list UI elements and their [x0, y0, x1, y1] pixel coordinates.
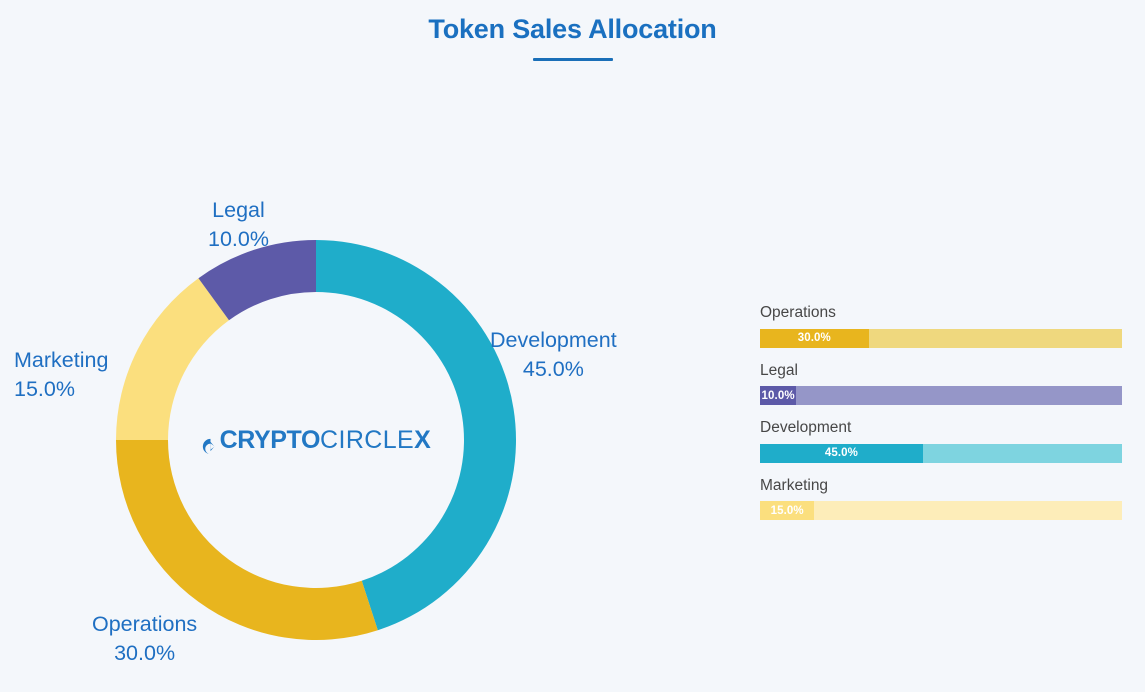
slice-label-development-pct: 45.0%	[490, 355, 617, 384]
legend-row[interactable]: Legal10.0%	[760, 362, 1122, 406]
legend-panel: Operations30.0%Legal10.0%Development45.0…	[760, 304, 1122, 520]
slice-label-legal-name: Legal	[212, 198, 265, 222]
legend-label: Marketing	[760, 477, 1122, 496]
slice-label-operations-name: Operations	[92, 612, 197, 636]
donut-slice-group	[116, 240, 516, 640]
slice-label-legal-pct: 10.0%	[208, 225, 269, 254]
legend-bar-pct: 30.0%	[798, 332, 831, 344]
title-underline-rule	[533, 58, 613, 61]
page-title: Token Sales Allocation	[0, 14, 1145, 45]
legend-bar-fill: 45.0%	[760, 444, 923, 463]
donut-slice-marketing[interactable]	[116, 278, 229, 440]
slice-label-marketing-name: Marketing	[14, 348, 108, 372]
slice-label-development: Development 45.0%	[490, 326, 617, 383]
slice-label-operations-pct: 30.0%	[92, 639, 197, 668]
donut-chart-svg	[116, 240, 516, 640]
donut-chart: CRYPTOCIRCLEX	[116, 240, 516, 640]
slice-label-marketing-pct: 15.0%	[14, 375, 108, 404]
legend-bar-fill: 10.0%	[760, 386, 796, 405]
slice-label-marketing: Marketing 15.0%	[14, 346, 108, 403]
slice-label-operations: Operations 30.0%	[92, 610, 197, 667]
legend-bar-fill: 15.0%	[760, 501, 814, 520]
slice-label-development-name: Development	[490, 328, 617, 352]
legend-row[interactable]: Marketing15.0%	[760, 477, 1122, 521]
legend-bar-fill: 30.0%	[760, 329, 869, 348]
donut-slice-development[interactable]	[316, 240, 516, 630]
legend-bar-track: 10.0%	[760, 386, 1122, 405]
legend-row[interactable]: Operations30.0%	[760, 304, 1122, 348]
chart-header: Token Sales Allocation	[0, 14, 1145, 61]
legend-label: Development	[760, 419, 1122, 438]
legend-label: Legal	[760, 362, 1122, 381]
legend-bar-track: 15.0%	[760, 501, 1122, 520]
legend-bar-pct: 45.0%	[825, 447, 858, 459]
legend-label: Operations	[760, 304, 1122, 323]
legend-bar-pct: 10.0%	[762, 390, 795, 402]
legend-row[interactable]: Development45.0%	[760, 419, 1122, 463]
legend-bar-pct: 15.0%	[771, 505, 804, 517]
legend-bar-track: 45.0%	[760, 444, 1122, 463]
slice-label-legal: Legal 10.0%	[208, 196, 269, 253]
legend-bar-track: 30.0%	[760, 329, 1122, 348]
